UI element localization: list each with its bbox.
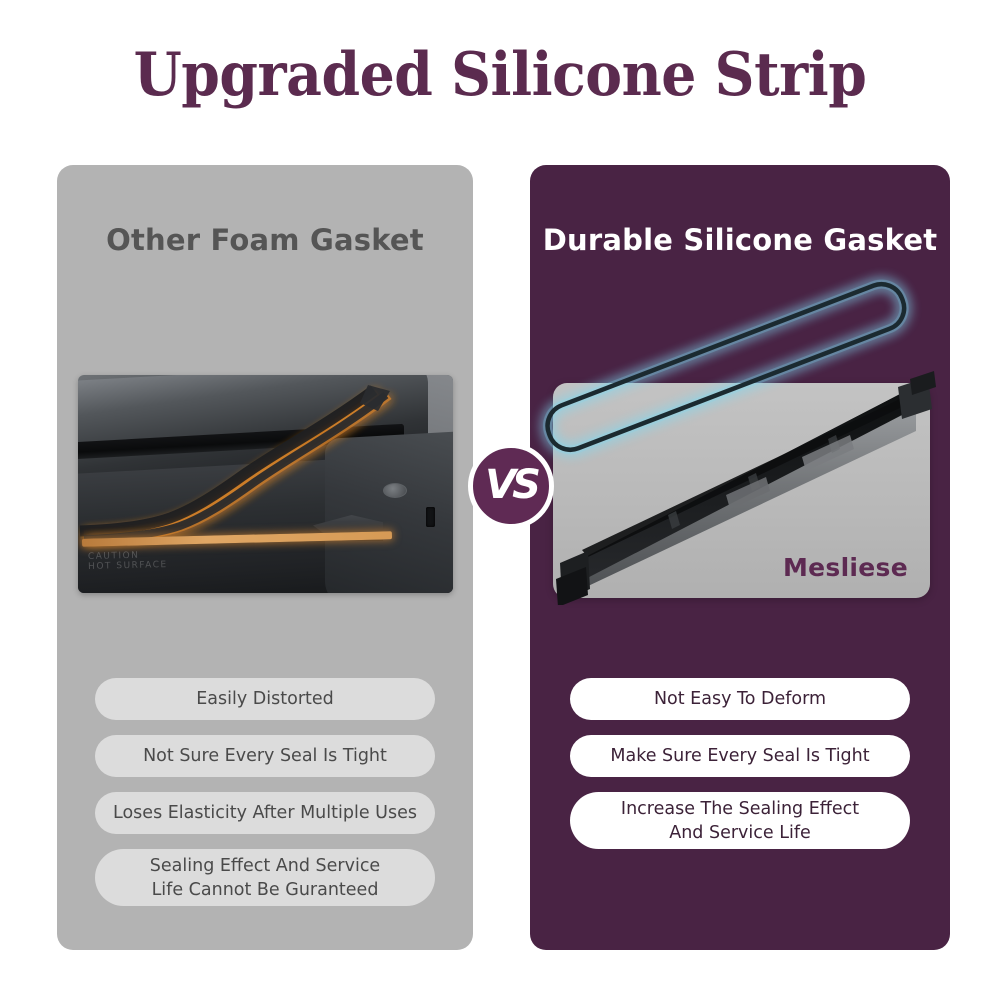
right-product-photo: Mesliese: [553, 383, 930, 598]
page-title: Upgraded Silicone Strip: [40, 40, 960, 110]
vs-badge: VS: [468, 443, 554, 529]
comparison-panel-other-foam: Other Foam Gasket CAUTION: [57, 165, 473, 950]
caution-line-2: HOT SURFACE: [88, 560, 168, 572]
list-item: Easily Distorted: [95, 678, 435, 720]
list-item: Not Easy To Deform: [570, 678, 910, 720]
right-panel-heading: Durable Silicone Gasket: [530, 223, 950, 257]
left-product-photo: CAUTION HOT SURFACE: [78, 375, 453, 593]
list-item: Loses Elasticity After Multiple Uses: [95, 792, 435, 834]
brand-watermark: Mesliese: [783, 553, 908, 582]
list-item: Make Sure Every Seal Is Tight: [570, 735, 910, 777]
list-item: Sealing Effect And Service Life Cannot B…: [95, 849, 435, 906]
left-panel-heading: Other Foam Gasket: [57, 223, 473, 257]
vs-label: VS: [485, 462, 537, 508]
right-feature-list: Not Easy To Deform Make Sure Every Seal …: [530, 678, 950, 864]
left-feature-list: Easily Distorted Not Sure Every Seal Is …: [57, 678, 473, 921]
comparison-panel-durable-silicone: Durable Silicone Gasket Mesliese: [530, 165, 950, 950]
caution-label: CAUTION HOT SURFACE: [88, 550, 168, 572]
list-item: Not Sure Every Seal Is Tight: [95, 735, 435, 777]
list-item: Increase The Sealing Effect And Service …: [570, 792, 910, 849]
